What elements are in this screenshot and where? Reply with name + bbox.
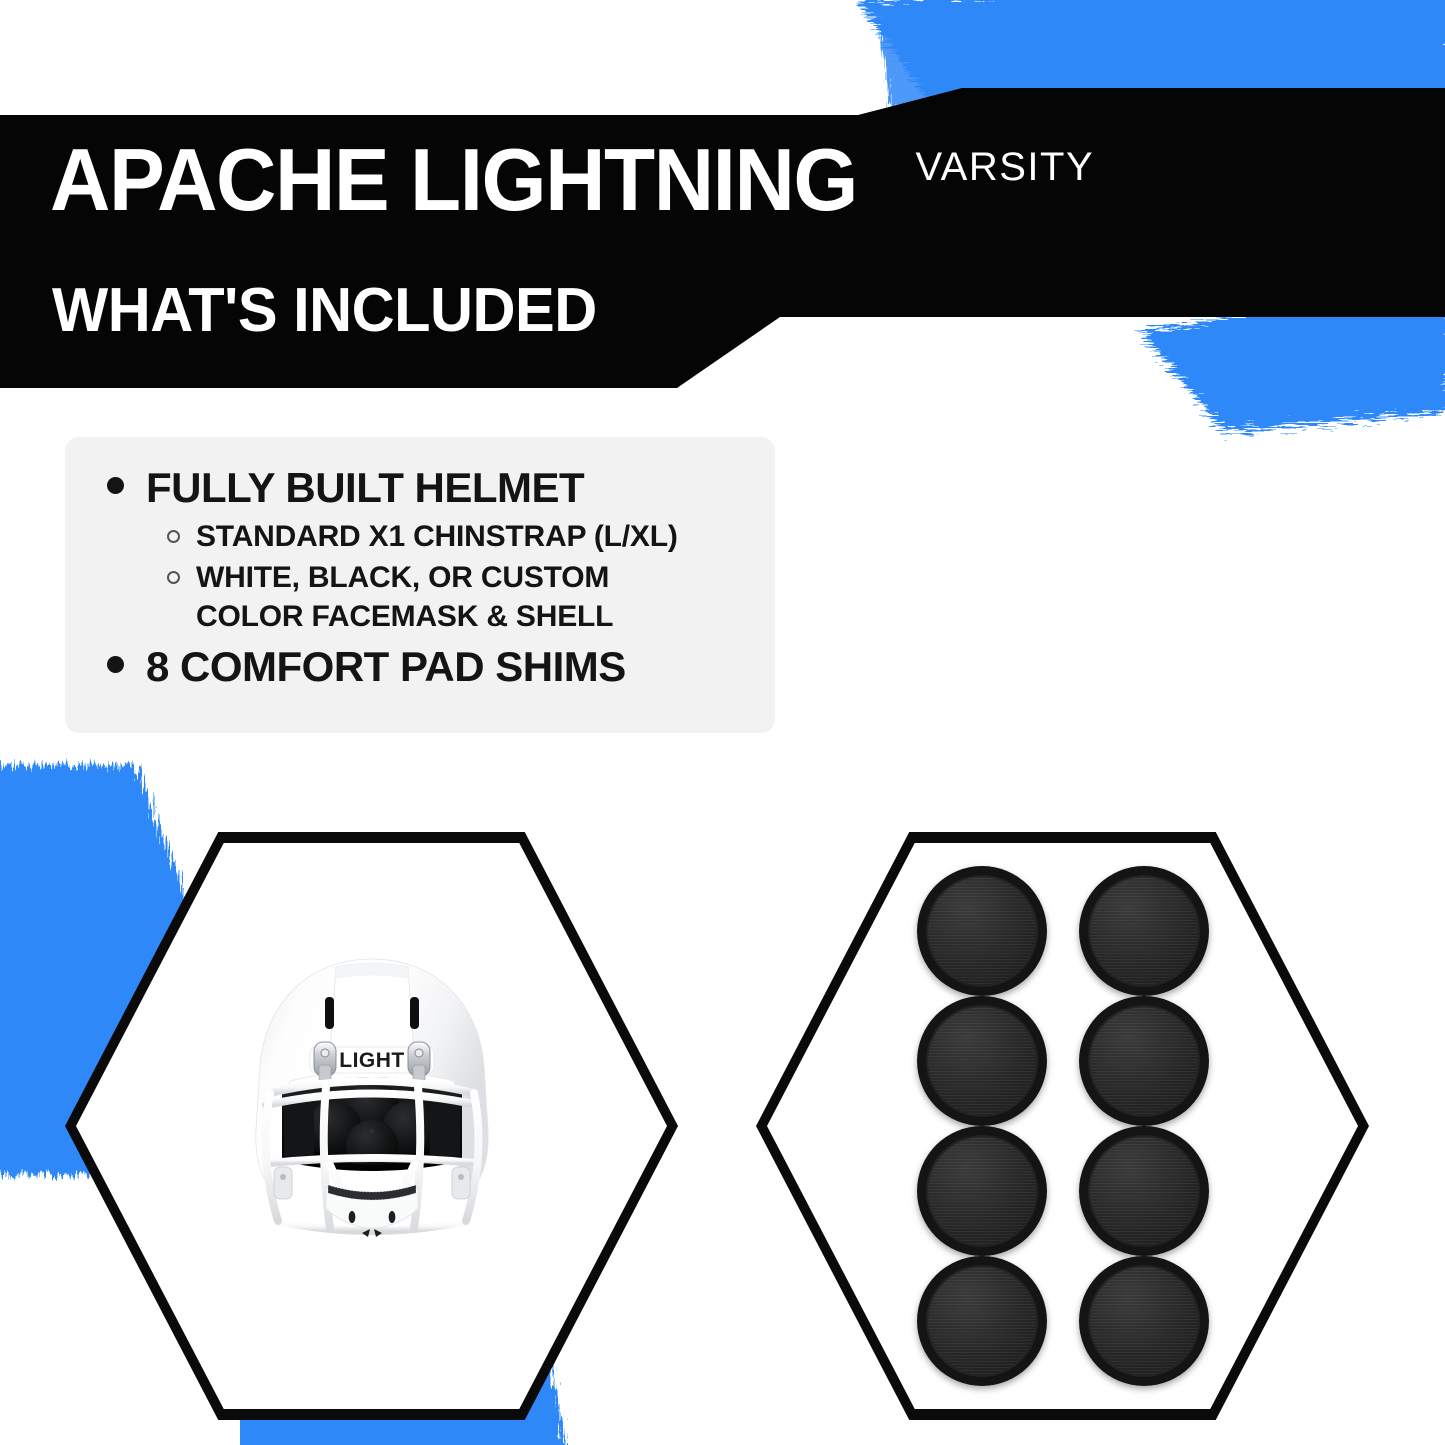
pad-shim [1079,866,1209,996]
brush-top-right-lower [1020,292,1445,482]
bullet-solid-icon [107,477,124,494]
page-title: APACHE LIGHTNING VARSITY [50,140,1094,221]
product-infographic: APACHE LIGHTNING VARSITY WHAT'S INCLUDED… [0,0,1445,1445]
list-item: FULLY BUILT HELMET [95,463,757,513]
bullet-hollow-icon [167,530,180,543]
list-item: WHITE, BLACK, OR CUSTOM COLOR FACEMASK &… [155,558,757,636]
pad-shims-card [756,832,1369,1420]
hexagon-content [756,832,1369,1420]
pad-shim [917,1126,1047,1256]
title-main: APACHE LIGHTNING [50,140,857,221]
helmet-card: LIGHT [65,832,678,1420]
list-item-label: FULLY BUILT HELMET [146,463,584,513]
pad-shim [1079,1256,1209,1386]
title-variant-label: VARSITY [915,145,1094,190]
sub-list: STANDARD X1 CHINSTRAP (L/XL) WHITE, BLAC… [155,517,757,636]
list-item-label: STANDARD X1 CHINSTRAP (L/XL) [196,517,678,556]
pad-shim [917,1256,1047,1386]
bullet-hollow-icon [167,571,180,584]
list-item: STANDARD X1 CHINSTRAP (L/XL) [155,517,757,556]
list-item-label: 8 COMFORT PAD SHIMS [146,642,626,692]
included-list-panel: FULLY BUILT HELMET STANDARD X1 CHINSTRAP… [65,437,775,733]
pad-shim [917,996,1047,1126]
helmet-image: LIGHT [222,941,522,1311]
list-item-label: WHITE, BLACK, OR CUSTOM COLOR FACEMASK &… [196,558,666,636]
pad-shim [917,866,1047,996]
list-item: 8 COMFORT PAD SHIMS [95,642,757,692]
pad-shims-grid [917,866,1209,1386]
pad-shim [1079,996,1209,1126]
svg-text:LIGHT: LIGHT [339,1049,405,1072]
page-subtitle: WHAT'S INCLUDED [52,275,597,346]
bullet-solid-icon [107,656,124,673]
pad-shim [1079,1126,1209,1256]
hexagon-content: LIGHT [65,832,678,1420]
